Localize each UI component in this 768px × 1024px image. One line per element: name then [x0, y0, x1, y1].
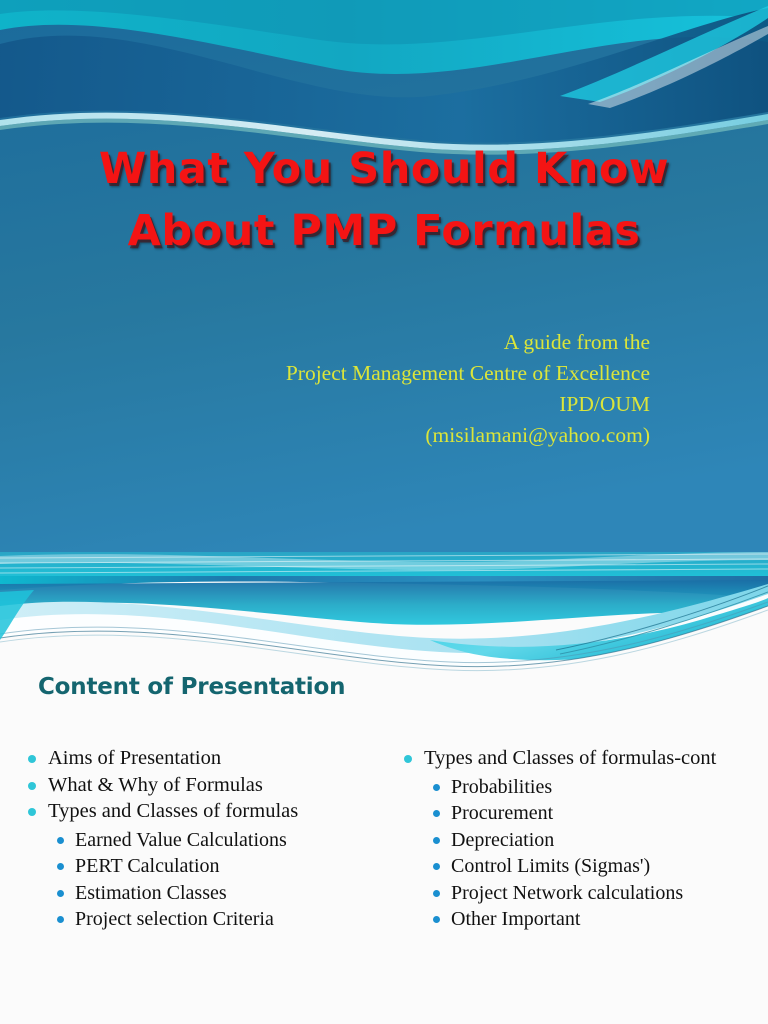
content-heading: Content of Presentation: [38, 674, 345, 700]
bullet-dot-icon: [57, 863, 64, 870]
slide-title-heading: What You Should Know About PMP Formulas: [0, 138, 768, 262]
list-item[interactable]: Estimation Classes: [46, 881, 374, 907]
bullet-dot-icon: [57, 837, 64, 844]
list-item-label: Project selection Criteria: [75, 907, 374, 933]
slide-content: Content of Presentation Aims of Presenta…: [0, 576, 768, 1024]
bullet-dot-icon: [433, 810, 440, 817]
content-column-left: Aims of Presentation What & Why of Formu…: [0, 746, 384, 934]
bullet-sublist-left: Earned Value Calculations PERT Calculati…: [46, 828, 374, 933]
list-item[interactable]: Types and Classes of formulas: [18, 799, 374, 825]
list-item-label: Types and Classes of formulas-cont: [424, 746, 758, 772]
list-item-label: Aims of Presentation: [48, 746, 374, 772]
list-item[interactable]: Types and Classes of formulas-cont: [394, 746, 758, 772]
list-item[interactable]: Control Limits (Sigmas'): [422, 854, 758, 880]
bullet-dot-icon: [28, 755, 36, 763]
content-columns: Aims of Presentation What & Why of Formu…: [0, 746, 768, 934]
bullet-list-right: Types and Classes of formulas-cont Proba…: [394, 746, 758, 933]
list-item-label: Types and Classes of formulas: [48, 799, 374, 825]
list-item[interactable]: Project Network calculations: [422, 881, 758, 907]
list-item-label: Procurement: [451, 801, 758, 827]
slide-title: What You Should Know About PMP Formulas …: [0, 0, 768, 576]
list-item-label: What & Why of Formulas: [48, 773, 374, 799]
bullet-dot-icon: [433, 890, 440, 897]
bullet-dot-icon: [57, 890, 64, 897]
bullet-dot-icon: [28, 782, 36, 790]
list-item[interactable]: What & Why of Formulas: [18, 773, 374, 799]
list-item-label: Earned Value Calculations: [75, 828, 374, 854]
presentation-page: What You Should Know About PMP Formulas …: [0, 0, 768, 1024]
list-item[interactable]: Aims of Presentation: [18, 746, 374, 772]
list-item-label: Estimation Classes: [75, 881, 374, 907]
bullet-dot-icon: [404, 755, 412, 763]
list-item[interactable]: Project selection Criteria: [46, 907, 374, 933]
list-item[interactable]: Procurement: [422, 801, 758, 827]
bullet-dot-icon: [433, 784, 440, 791]
list-item-label: PERT Calculation: [75, 854, 374, 880]
slide1-wave-decoration: [0, 0, 768, 576]
list-item-label: Project Network calculations: [451, 881, 758, 907]
list-item[interactable]: Depreciation: [422, 828, 758, 854]
sublist-wrapper-right: Probabilities Procurement Depreciation: [394, 775, 758, 933]
bullet-dot-icon: [28, 808, 36, 816]
content-column-right: Types and Classes of formulas-cont Proba…: [384, 746, 768, 934]
list-item-label: Other Important: [451, 907, 758, 933]
sublist-wrapper-left: Earned Value Calculations PERT Calculati…: [18, 828, 374, 933]
bullet-dot-icon: [433, 916, 440, 923]
bullet-dot-icon: [433, 863, 440, 870]
bullet-dot-icon: [433, 837, 440, 844]
list-item-label: Depreciation: [451, 828, 758, 854]
list-item-label: Probabilities: [451, 775, 758, 801]
list-item-label: Control Limits (Sigmas'): [451, 854, 758, 880]
list-item[interactable]: Other Important: [422, 907, 758, 933]
bullet-list-left: Aims of Presentation What & Why of Formu…: [18, 746, 374, 933]
bullet-dot-icon: [57, 916, 64, 923]
bullet-sublist-right: Probabilities Procurement Depreciation: [422, 775, 758, 933]
list-item[interactable]: PERT Calculation: [46, 854, 374, 880]
list-item[interactable]: Probabilities: [422, 775, 758, 801]
slide-subtitle: A guide from the Project Management Cent…: [120, 327, 650, 451]
list-item[interactable]: Earned Value Calculations: [46, 828, 374, 854]
